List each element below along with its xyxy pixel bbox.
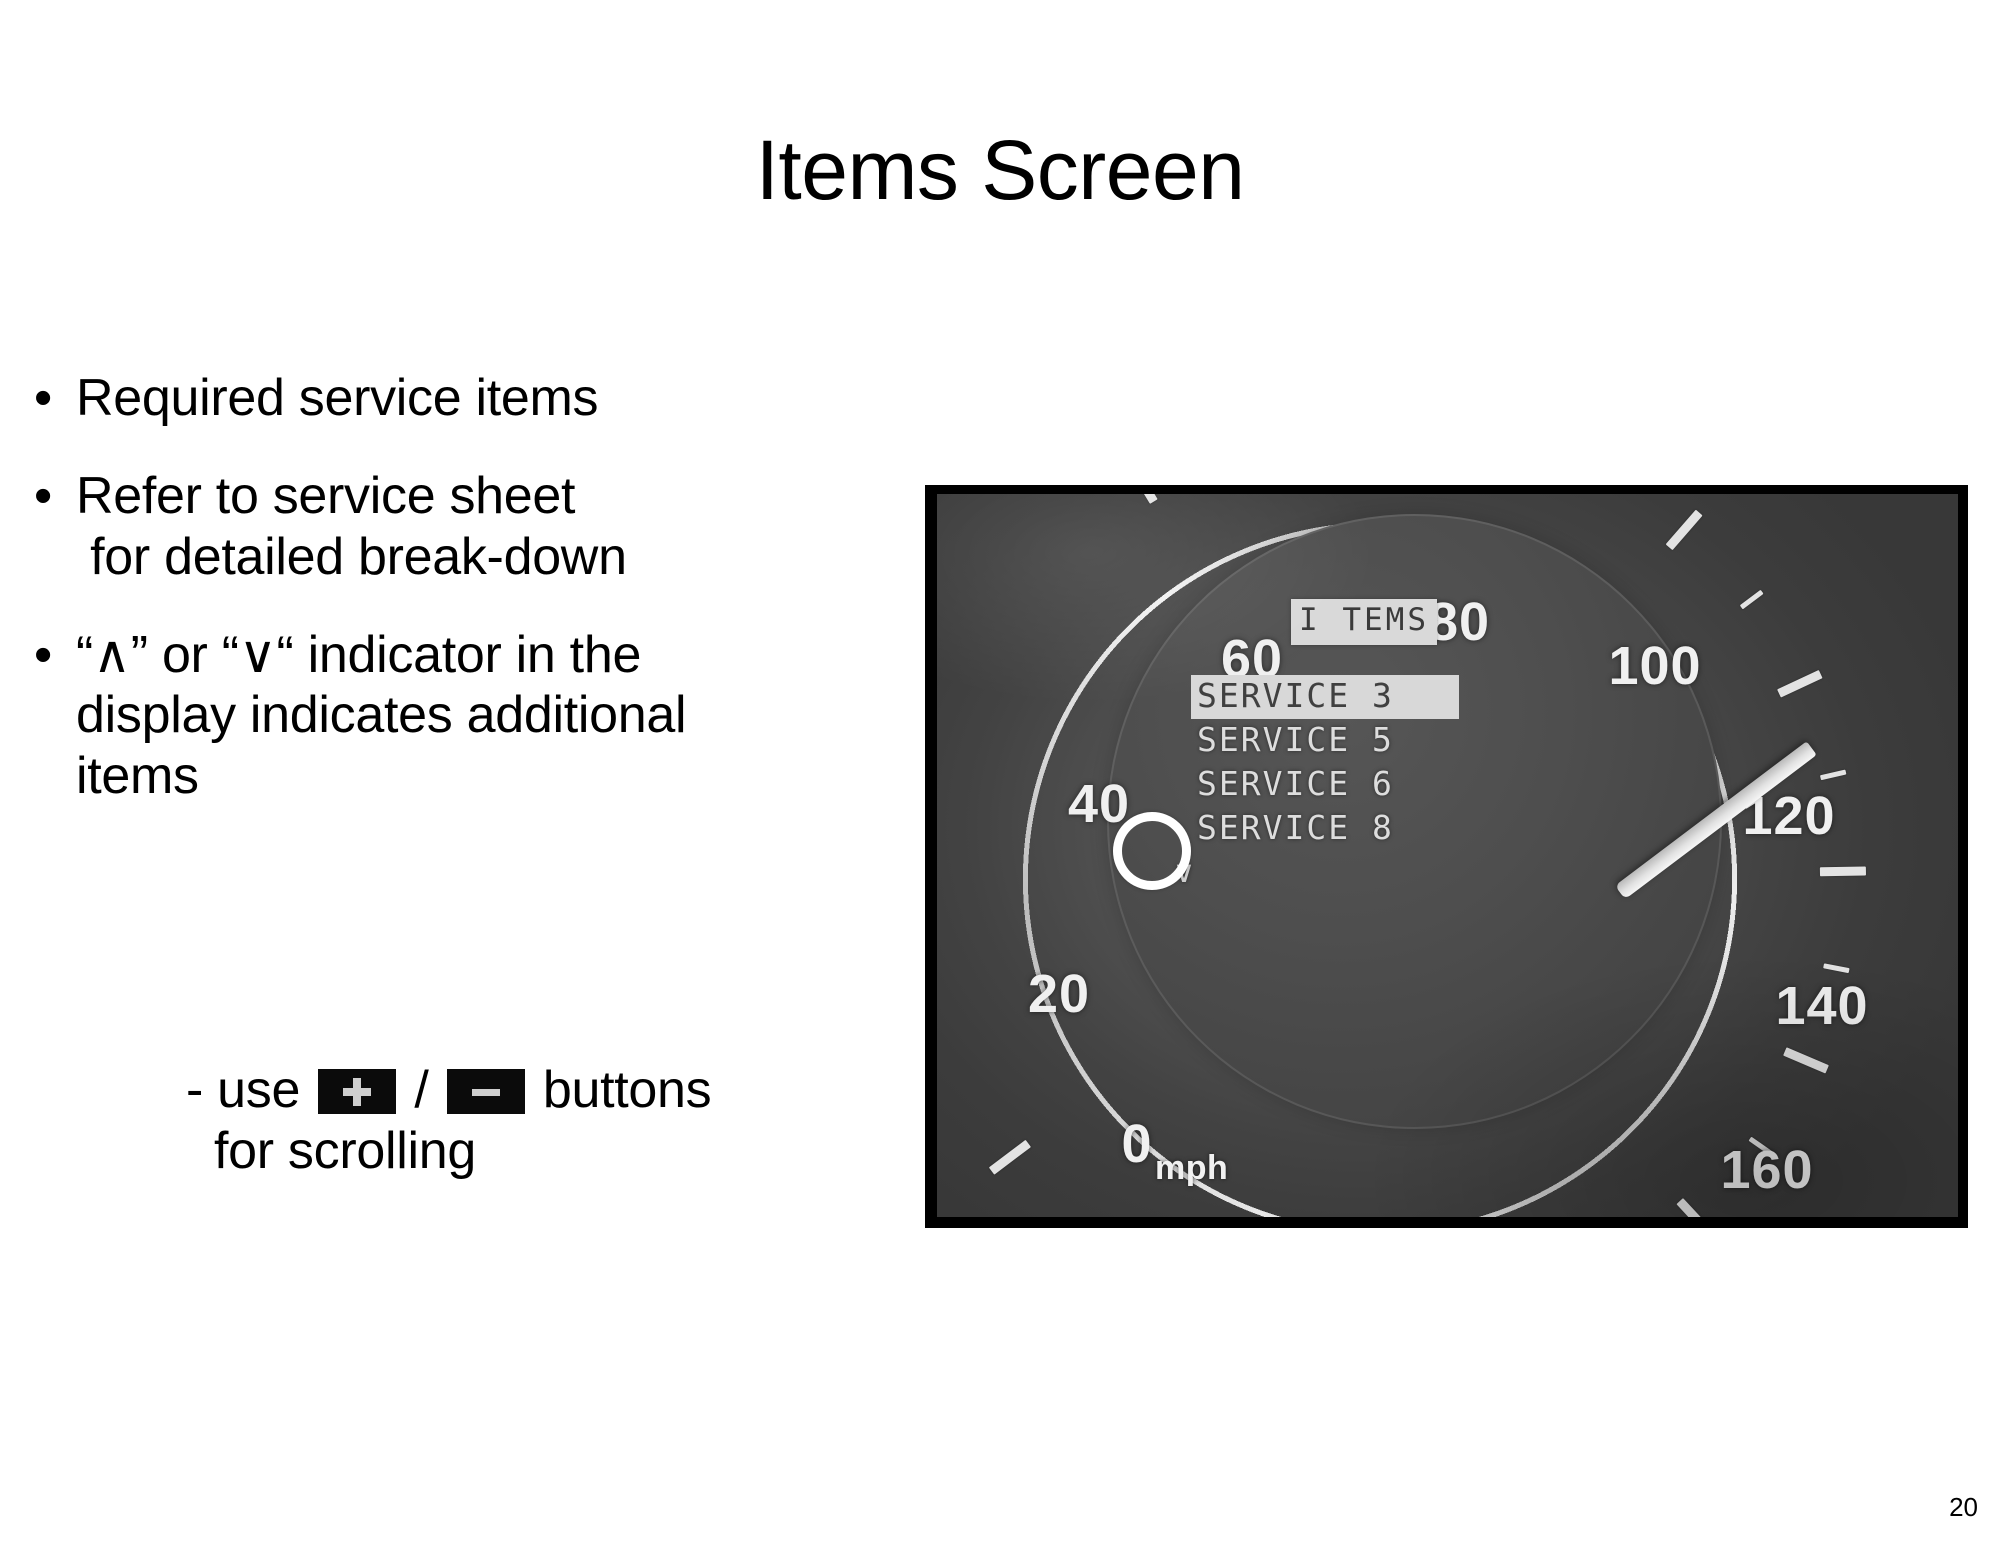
annotation-circle-highlight (1113, 812, 1191, 890)
bullet-line: “∧” or “∨“ indicator in the (76, 625, 720, 685)
bullet-marker-icon: • (34, 368, 52, 428)
tick-label-20: 20 (1028, 963, 1090, 1025)
lcd-list-item-selected[interactable]: SERVICE 3 (1191, 675, 1459, 719)
sub-bullet-line-1: - use / buttons (186, 1060, 711, 1121)
sub-bullet-suffix: buttons (529, 1060, 712, 1121)
lcd-header-items: I TEMS (1291, 599, 1437, 645)
list-item: • “∧” or “∨“ indicator in the display in… (30, 625, 720, 806)
slide-canvas: Items Screen • Required service items • … (0, 0, 2000, 1545)
minus-glyph-icon (471, 1077, 501, 1107)
bullet-line: Refer to service sheet (76, 466, 720, 526)
sub-bullet-line-2: for scrolling (214, 1121, 711, 1182)
bullet-line: display indicates additional (76, 685, 720, 745)
tick-label-140: 140 (1775, 975, 1868, 1037)
tick-label-160: 160 (1720, 1139, 1813, 1201)
minus-button-icon[interactable] (447, 1069, 525, 1114)
sub-bullet: - use / buttons for scrolling (186, 1060, 711, 1183)
list-item: • Required service items (30, 368, 720, 428)
sub-bullet-prefix: - use (186, 1060, 314, 1121)
bullet-list: • Required service items • Refer to serv… (30, 368, 720, 844)
lcd-list-item[interactable]: SERVICE 6 (1191, 763, 1459, 807)
tick-label-100: 100 (1608, 635, 1701, 697)
chevron-down-icon: ∨ (1173, 858, 1499, 888)
tick-label-0: 0 (1121, 1113, 1152, 1175)
instrument-cluster-photo: 0 20 40 60 80 100 120 140 160 mph I TEMS… (925, 485, 1968, 1228)
bullet-marker-icon: • (34, 466, 52, 526)
lcd-list-item[interactable]: SERVICE 8 (1191, 807, 1459, 851)
bullet-text: “∧” or “∨“ indicator in the display indi… (76, 625, 720, 806)
bullet-text: Required service items (76, 368, 720, 428)
plus-button-icon[interactable] (318, 1069, 396, 1114)
lcd-item-list: SERVICE 3 SERVICE 5 SERVICE 6 SERVICE 8 (1191, 675, 1499, 852)
bullet-line: items (76, 746, 720, 806)
plus-glyph-icon (342, 1077, 372, 1107)
unit-label: mph (1155, 1149, 1228, 1188)
list-item: • Refer to service sheet for detailed br… (30, 466, 720, 587)
bullet-marker-icon: • (34, 625, 52, 685)
bullet-line: Required service items (76, 368, 720, 428)
page-number: 20 (1949, 1492, 1978, 1523)
cluster-face: 0 20 40 60 80 100 120 140 160 mph I TEMS… (937, 494, 1958, 1217)
lcd-display: I TEMS SERVICE 3 SERVICE 5 SERVICE 6 SER… (1169, 599, 1499, 888)
bullet-line: for detailed break-down (76, 527, 720, 587)
bullet-text: Refer to service sheet for detailed brea… (76, 466, 720, 587)
lcd-list-item[interactable]: SERVICE 5 (1191, 719, 1459, 763)
page-title: Items Screen (0, 128, 2000, 212)
sub-bullet-separator: / (400, 1060, 442, 1121)
